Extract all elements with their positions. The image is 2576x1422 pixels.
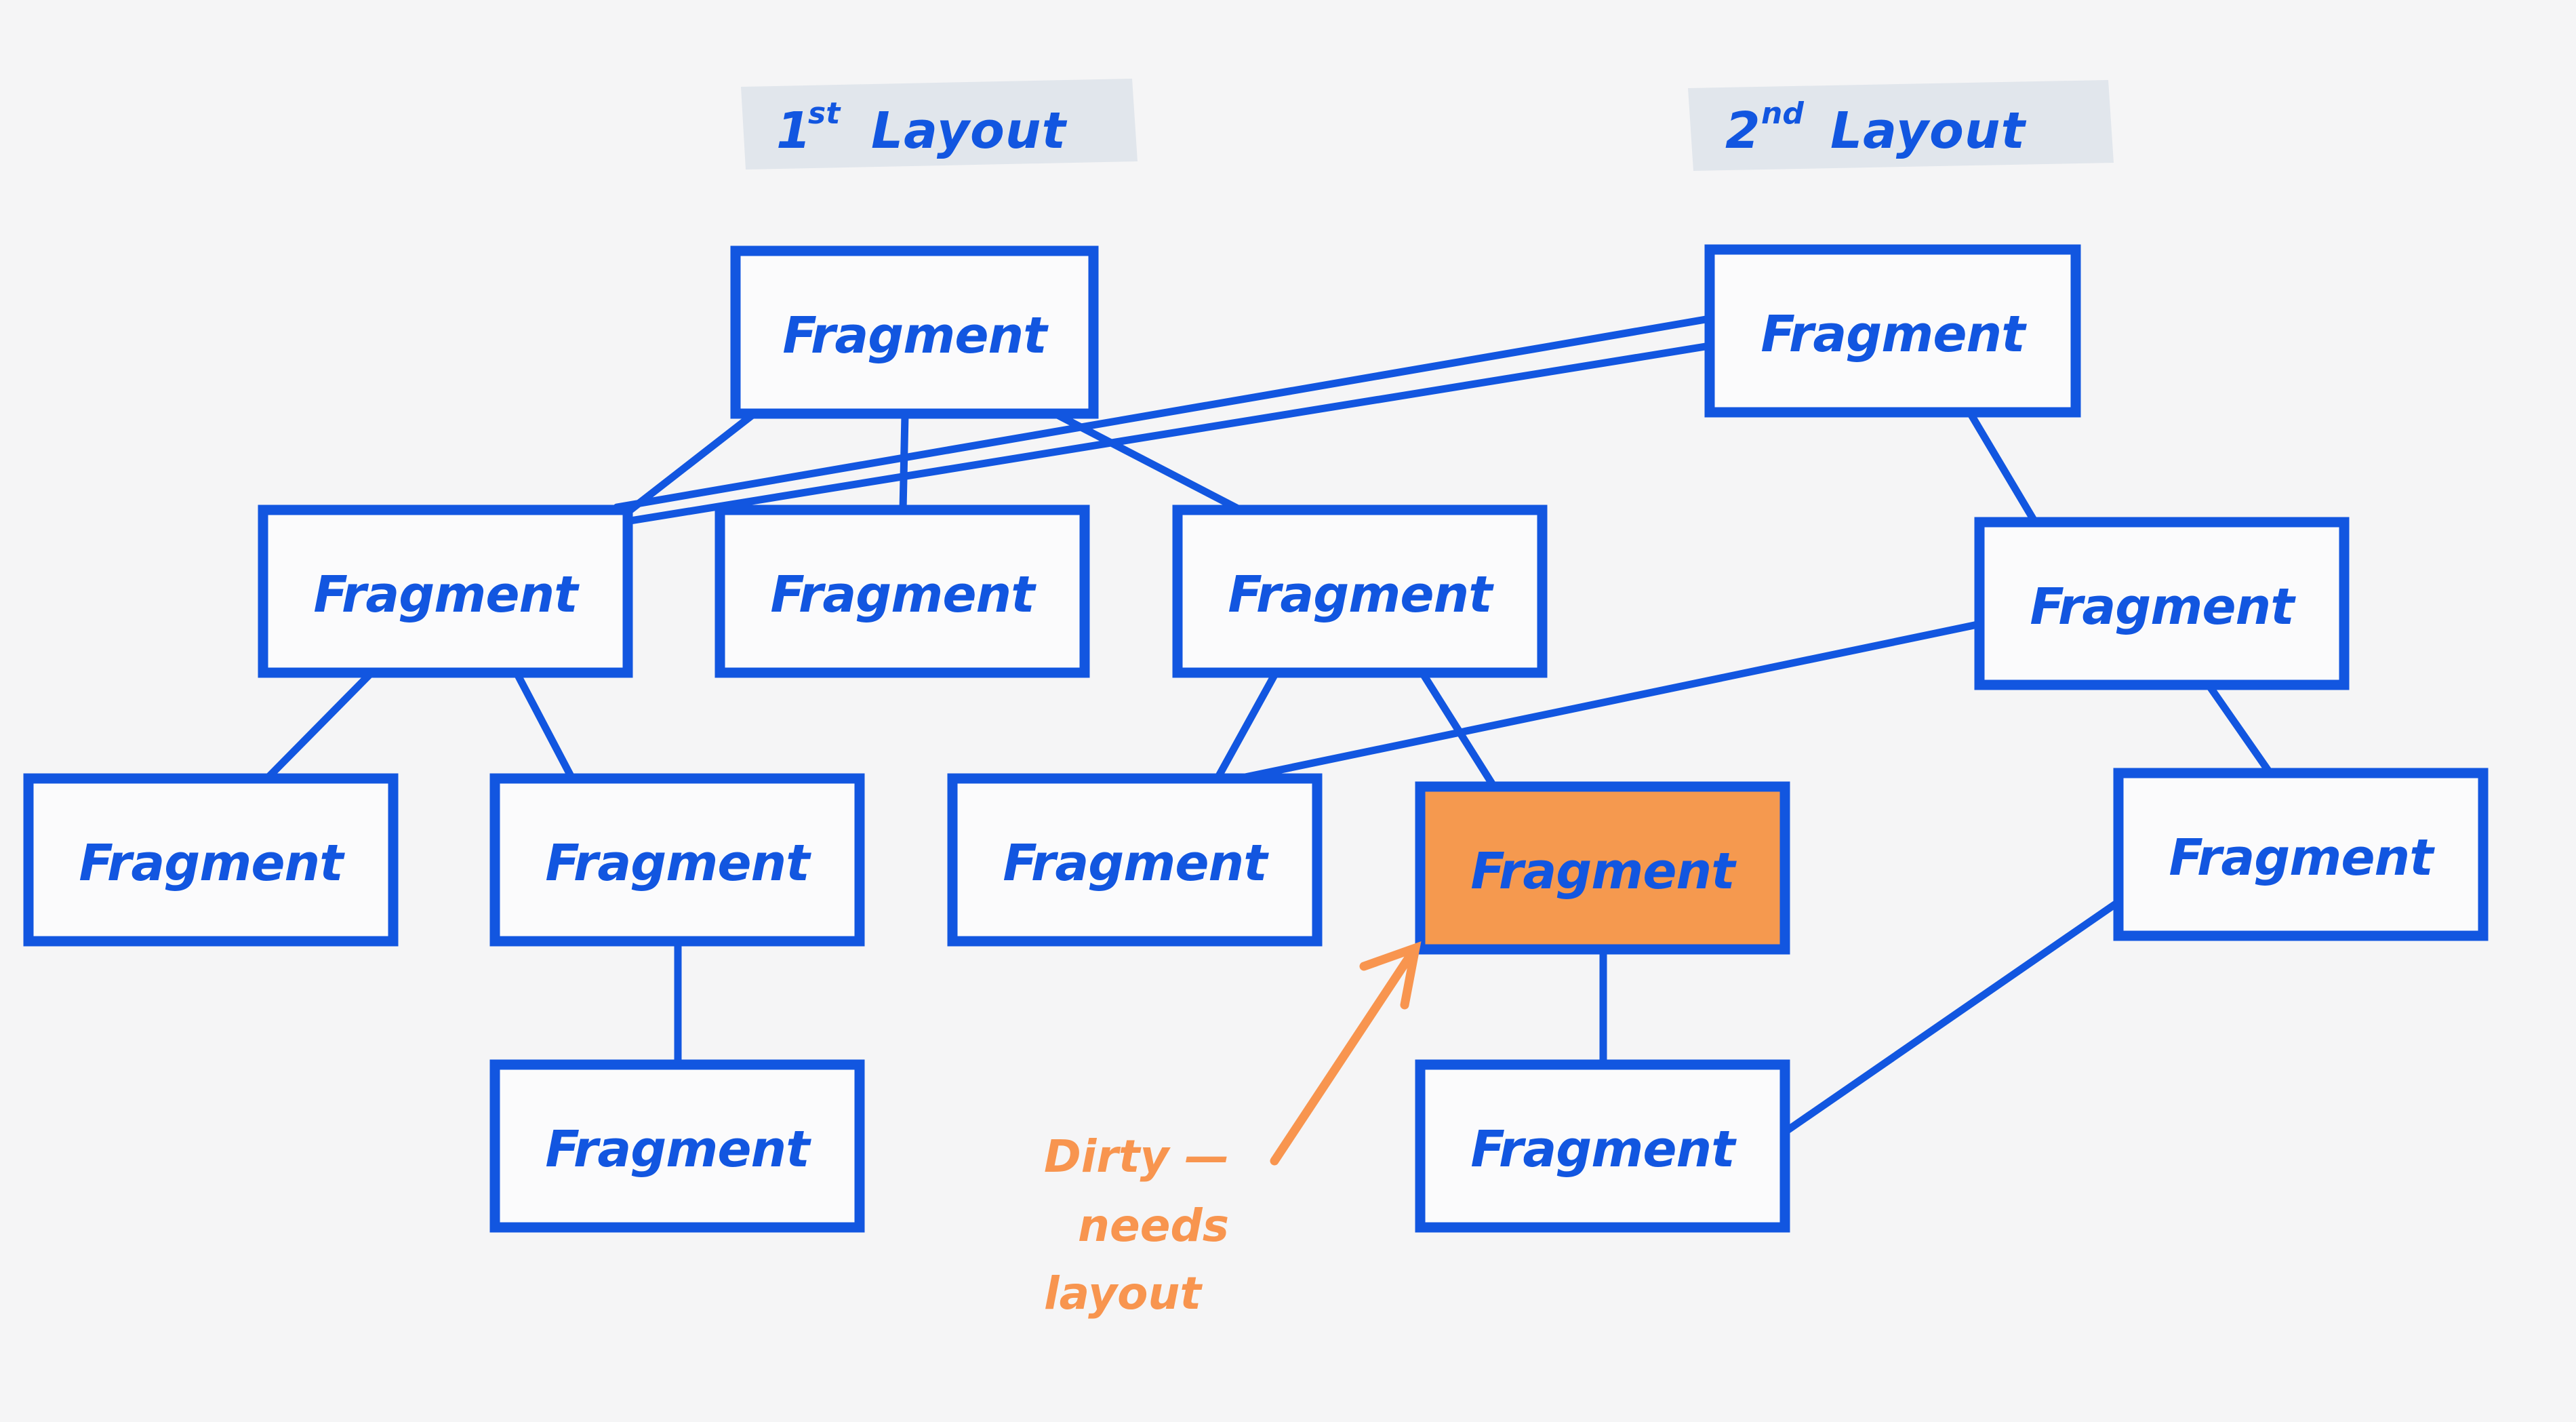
edge-root2-to-l2d [1971, 415, 2035, 522]
node-root1[interactable]: Fragment [736, 251, 1093, 414]
node-root2[interactable]: Fragment [1710, 250, 2076, 412]
dirty-annotation-group: Dirty — needs layout [1044, 948, 1415, 1320]
node-root2-label: Fragment [1760, 305, 2027, 363]
heading-1st-sup: st [808, 96, 841, 131]
edge-l2c-to-l3c [1215, 673, 1276, 783]
node-l3-dirty[interactable]: Fragment [1420, 787, 1785, 949]
node-l3-b-label: Fragment [545, 834, 811, 892]
node-l3-c-label: Fragment [1003, 834, 1269, 892]
node-l3-dirty-label: Fragment [1470, 842, 1737, 901]
node-l4-a[interactable]: Fragment [495, 1065, 860, 1227]
node-l3-a[interactable]: Fragment [28, 778, 393, 941]
heading-2nd-main: 2 [1725, 102, 1761, 160]
edge-l2a-to-l3b [517, 673, 573, 780]
edge-l2d-to-l3e [2209, 685, 2271, 774]
edge-l4b-to-l3e [1786, 901, 2120, 1131]
node-l4-b[interactable]: Fragment [1420, 1065, 1785, 1227]
annotation-line-1: Dirty — [1044, 1130, 1230, 1183]
annotation-line-2: needs [1078, 1200, 1229, 1252]
heading-1st-main: 1 [776, 102, 812, 160]
annotation-arrow-icon [1274, 951, 1413, 1161]
fragment-tree-diagram: Fragment Fragment Fragment Fragment Frag… [0, 0, 2576, 1422]
node-l3-c[interactable]: Fragment [952, 778, 1317, 941]
node-l3-b[interactable]: Fragment [495, 778, 860, 941]
diagram-canvas: Fragment Fragment Fragment Fragment Frag… [0, 0, 2576, 1422]
annotation-line-3: layout [1044, 1267, 1203, 1320]
node-l2-a-label: Fragment [313, 566, 580, 624]
node-l3-e-label: Fragment [2169, 829, 2435, 887]
node-l2-c-label: Fragment [1228, 566, 1494, 624]
heading-2nd-rest: Layout [1830, 102, 2027, 160]
node-l4-b-label: Fragment [1470, 1120, 1737, 1179]
edge-root1-to-l2b [903, 415, 905, 510]
node-l2-b[interactable]: Fragment [720, 510, 1085, 673]
node-l2-d-label: Fragment [2030, 578, 2296, 636]
node-l3-a-label: Fragment [79, 834, 345, 892]
heading-1st-rest: Layout [871, 102, 1068, 160]
node-l2-d[interactable]: Fragment [1979, 522, 2344, 685]
heading-2nd-sup: nd [1761, 96, 1804, 131]
node-l3-e[interactable]: Fragment [2118, 773, 2483, 936]
node-l4-a-label: Fragment [545, 1120, 811, 1179]
edge-l2a-to-l3a [266, 673, 371, 780]
node-l2-c[interactable]: Fragment [1178, 510, 1542, 673]
node-root1-label: Fragment [782, 307, 1049, 365]
node-l2-a[interactable]: Fragment [263, 510, 628, 673]
edge-group [266, 319, 2271, 1131]
headings-group: 1 st Layout 2 nd Layout [776, 96, 2027, 160]
node-l2-b-label: Fragment [770, 566, 1037, 624]
